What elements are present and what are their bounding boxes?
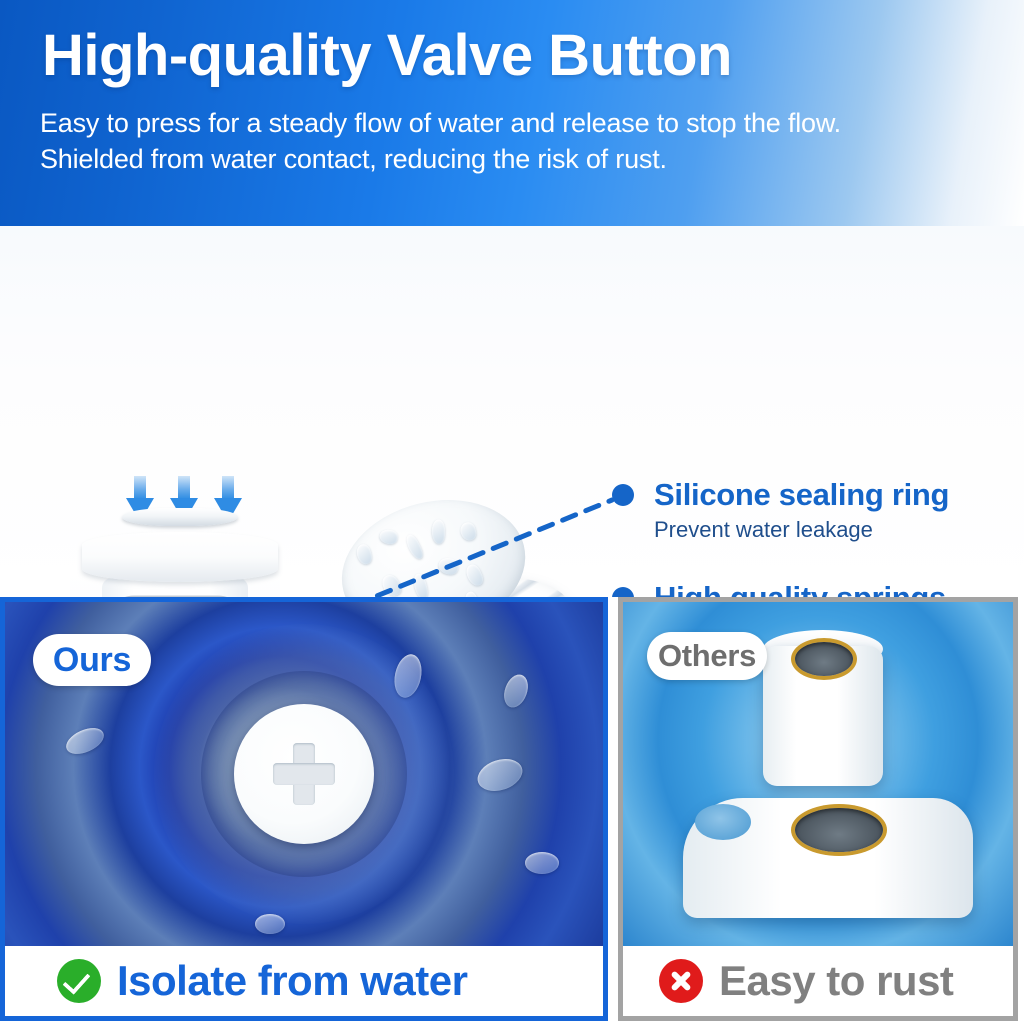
feature-title: High quality springs [654, 579, 1016, 597]
bullet-dot-icon [612, 484, 634, 506]
valve-cross-slot-graphic [273, 743, 335, 805]
product-image-threaded-valve [300, 488, 600, 597]
feature-item-silicone-sealing-ring: Silicone sealing ring Prevent water leak… [606, 476, 1016, 545]
valve-cap-graphic [122, 508, 238, 526]
badge-others: Others [647, 632, 767, 680]
water-droplets-graphic [341, 494, 525, 597]
caption-others-text: Easy to rust [719, 957, 953, 1005]
subtitle-line-2: Shielded from water contact, reducing th… [40, 141, 1000, 177]
check-circle-icon [57, 959, 101, 1003]
header-subtitle: Easy to press for a steady flow of water… [40, 105, 1000, 177]
feature-title: Silicone sealing ring [654, 476, 1016, 514]
header-banner: High-quality Valve Button Easy to press … [0, 0, 1024, 226]
feature-subtitle: Prevent water leakage [654, 515, 1016, 545]
feature-list: Silicone sealing ring Prevent water leak… [606, 476, 1016, 597]
photo-ours-valve: Ours [5, 602, 603, 946]
caption-ours-text: Isolate from water [117, 957, 467, 1005]
bullet-dot-icon [612, 587, 634, 597]
product-infographic: High-quality Valve Button Easy to press … [0, 0, 1024, 1024]
comparison-section: Ours Isolate from water Others [0, 597, 1024, 1024]
photo-others-valve: Others [623, 602, 1013, 946]
caption-others: Easy to rust [623, 946, 1013, 1016]
badge-ours: Ours [33, 634, 151, 686]
product-image-exploded-valve [60, 508, 290, 597]
caption-ours: Isolate from water [5, 946, 603, 1016]
badge-others-label: Others [658, 638, 756, 674]
subtitle-line-1: Easy to press for a steady flow of water… [40, 105, 1000, 141]
exposed-metal-ring-graphic [795, 808, 883, 852]
feature-item-high-quality-springs: High quality springs Effortless to press [606, 579, 1016, 597]
badge-ours-label: Ours [53, 641, 131, 680]
x-circle-icon [659, 959, 703, 1003]
exposed-metal-ring-graphic [795, 642, 853, 676]
comparison-panel-others: Others Easy to rust [618, 597, 1018, 1021]
comparison-panel-ours: Ours Isolate from water [0, 597, 608, 1021]
features-section: Silicone sealing ring Prevent water leak… [0, 226, 1024, 597]
page-title: High-quality Valve Button [42, 22, 732, 89]
